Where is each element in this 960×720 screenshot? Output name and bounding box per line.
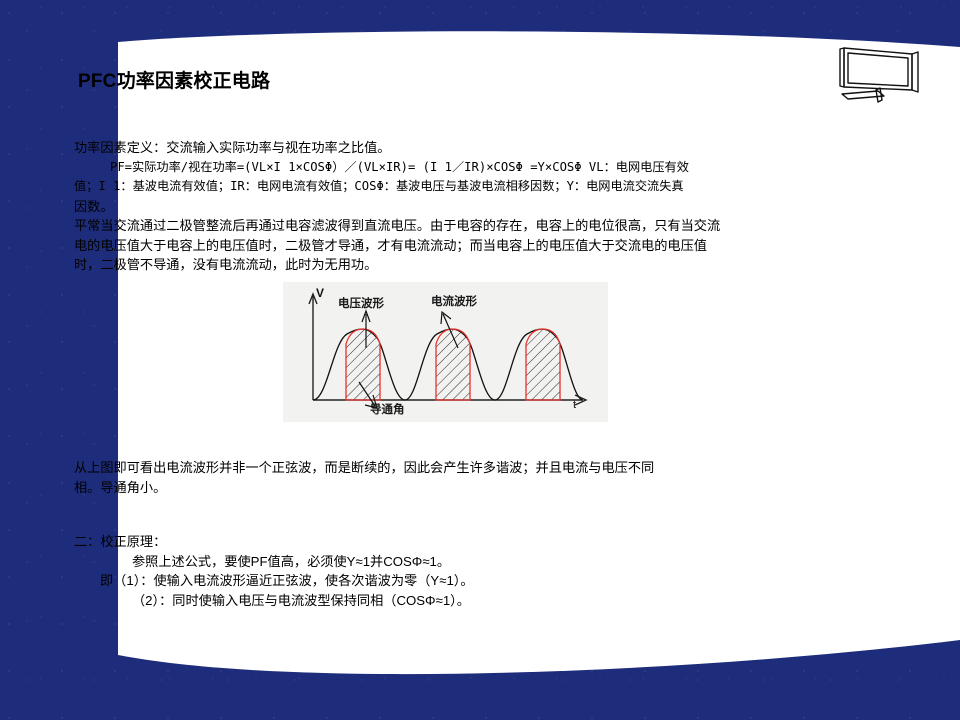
para1-line5: 平常当交流通过二极管整流后再通过电容滤波得到直流电压。由于电容的存在，电容上的电… [74,216,892,236]
para1-line7: 时，二极管不导通，没有电流流动，此时为无用功。 [74,255,892,275]
para3-line3: 即（1）：使输入电流波形逼近正弦波，使各次谐波为零（Y≈1）。 [74,571,904,591]
current-pulses [346,329,560,400]
label-voltage-waveform: 电压波形 [338,295,384,311]
page-title: PFC功率因素校正电路 [78,66,778,93]
paragraph-definition: 功率因素定义：交流输入实际功率与视在功率之比值。 PF=实际功率/视在功率=(V… [74,138,892,275]
axis-label-t: t [573,399,576,411]
para2-line2: 相。导通角小。 [74,478,894,498]
para2-line1: 从上图即可看出电流波形并非一个正弦波，而是断续的，因此会产生许多谐波；并且电流与… [74,458,894,478]
waveform-figure: V t 电压波形 电流波形 导通角 [283,282,608,422]
para1-line3: 值；I 1：基波电流有效值；IR：电网电流有效值；COSΦ：基波电压与基波电流相… [74,177,892,197]
label-conduction-angle: 导通角 [370,401,405,417]
monitor-icon [826,42,938,108]
paragraph-observation: 从上图即可看出电流波形并非一个正弦波，而是断续的，因此会产生许多谐波；并且电流与… [74,458,894,497]
axis-label-v: V [316,286,324,300]
para1-line2: PF=实际功率/视在功率=(VL×I 1×COSΦ）／(VL×IR)= (I 1… [74,158,892,178]
slide-canvas: PFC功率因素校正电路 功率因素定义：交流输入实际功率与视在功率之比值。 PF=… [0,0,960,720]
para1-line6: 电的电压值大于电容上的电压值时，二极管才导通，才有电流流动；而当电容上的电压值大… [74,236,892,256]
para3-line2: 参照上述公式，要使PF值高，必须使Y≈1并COSΦ≈1。 [74,552,904,572]
slide-title-bar: PFC功率因素校正电路 [78,66,778,93]
label-current-waveform: 电流波形 [431,293,477,309]
paragraph-correction-principle: 二：校正原理： 参照上述公式，要使PF值高，必须使Y≈1并COSΦ≈1。 即（1… [74,532,904,610]
para1-line4: 因数。 [74,197,892,217]
para3-line1: 二：校正原理： [74,532,904,552]
para1-line1: 功率因素定义：交流输入实际功率与视在功率之比值。 [74,138,892,158]
para3-line4: （2）：同时使输入电压与电流波型保持同相（COSΦ≈1）。 [74,591,904,611]
